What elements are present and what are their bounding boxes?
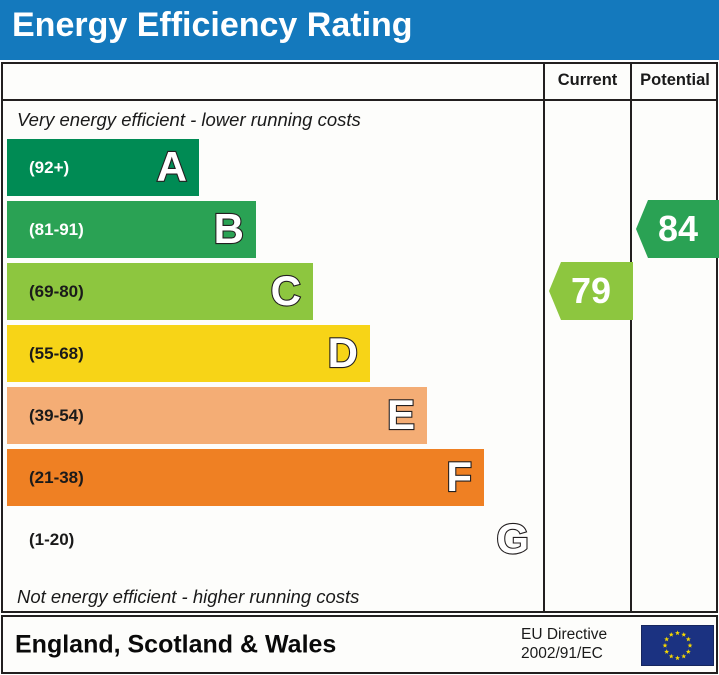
directive-line-1: EU Directive bbox=[521, 625, 607, 645]
caption-inefficient: Not energy efficient - higher running co… bbox=[17, 586, 359, 608]
band-range-g: (1-20) bbox=[29, 530, 74, 550]
band-b: (81-91)B bbox=[7, 201, 256, 258]
energy-efficiency-rating-chart: Energy Efficiency Rating Current Potenti… bbox=[0, 0, 719, 675]
rating-table: Current Potential Very energy efficient … bbox=[1, 62, 718, 613]
band-range-f: (21-38) bbox=[29, 468, 84, 488]
band-letter-b: B bbox=[214, 208, 244, 250]
band-c: (69-80)C bbox=[7, 263, 313, 320]
band-range-b: (81-91) bbox=[29, 220, 84, 240]
column-header-current: Current bbox=[545, 71, 630, 90]
band-range-d: (55-68) bbox=[29, 344, 84, 364]
band-range-c: (69-80) bbox=[29, 282, 84, 302]
caption-efficient: Very energy efficient - lower running co… bbox=[17, 109, 361, 131]
band-a: (92+)A bbox=[7, 139, 199, 196]
band-letter-e: E bbox=[387, 394, 415, 436]
potential-rating-marker: 84 bbox=[636, 200, 719, 258]
current-rating-marker: 79 bbox=[549, 262, 633, 320]
band-g: (1-20)G bbox=[7, 511, 541, 568]
chart-title-bar: Energy Efficiency Rating bbox=[0, 0, 719, 60]
column-divider-current bbox=[543, 64, 545, 611]
band-letter-f: F bbox=[446, 456, 472, 498]
column-divider-potential bbox=[630, 64, 632, 611]
band-bars: (92+)A(81-91)B(69-80)C(55-68)D(39-54)E(2… bbox=[5, 139, 541, 579]
column-header-potential: Potential bbox=[632, 71, 718, 90]
header-divider bbox=[3, 99, 716, 101]
page-title: Energy Efficiency Rating bbox=[12, 6, 413, 45]
band-letter-c: C bbox=[271, 270, 301, 312]
footer-directive-label: EU Directive 2002/91/EC bbox=[521, 625, 607, 665]
band-letter-g: G bbox=[496, 518, 529, 560]
band-letter-d: D bbox=[328, 332, 358, 374]
eu-flag-icon bbox=[641, 625, 714, 666]
band-e: (39-54)E bbox=[7, 387, 427, 444]
band-d: (55-68)D bbox=[7, 325, 370, 382]
chart-footer: England, Scotland & Wales EU Directive 2… bbox=[1, 615, 718, 674]
band-range-e: (39-54) bbox=[29, 406, 84, 426]
band-f: (21-38)F bbox=[7, 449, 484, 506]
band-letter-a: A bbox=[157, 146, 187, 188]
footer-region-label: England, Scotland & Wales bbox=[15, 630, 336, 659]
eu-stars-icon bbox=[642, 626, 713, 665]
band-range-a: (92+) bbox=[29, 158, 69, 178]
directive-line-2: 2002/91/EC bbox=[521, 645, 607, 665]
